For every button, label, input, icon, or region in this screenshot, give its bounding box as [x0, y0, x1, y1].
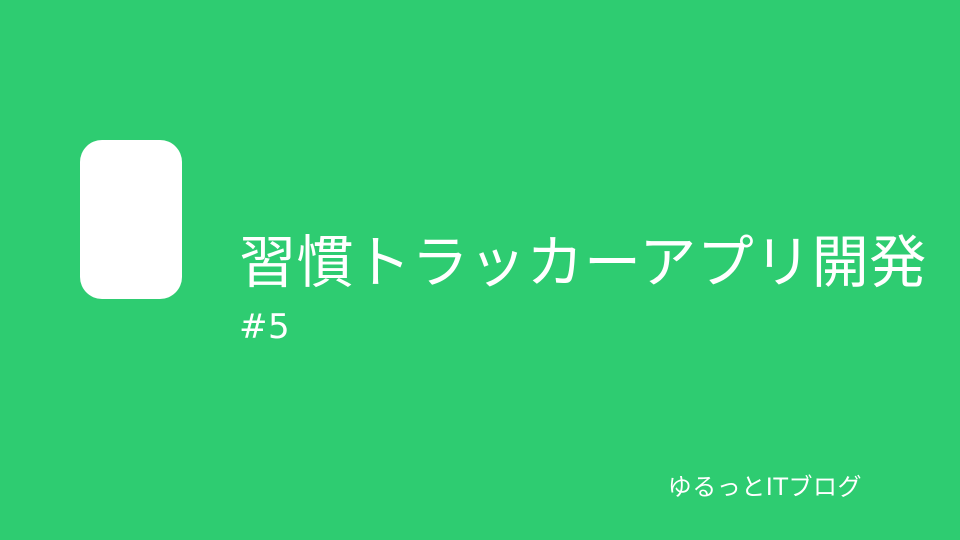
page-title: 習慣トラッカーアプリ開発	[239, 230, 939, 297]
thumbnail-canvas: 習慣トラッカーアプリ開発 #5 ゆるっとITブログ	[0, 0, 960, 540]
episode-number: #5	[239, 297, 939, 346]
app-card-icon	[80, 140, 182, 299]
headline-block: 習慣トラッカーアプリ開発 #5	[239, 230, 939, 347]
brand-footer: ゆるっとITブログ	[668, 474, 862, 500]
